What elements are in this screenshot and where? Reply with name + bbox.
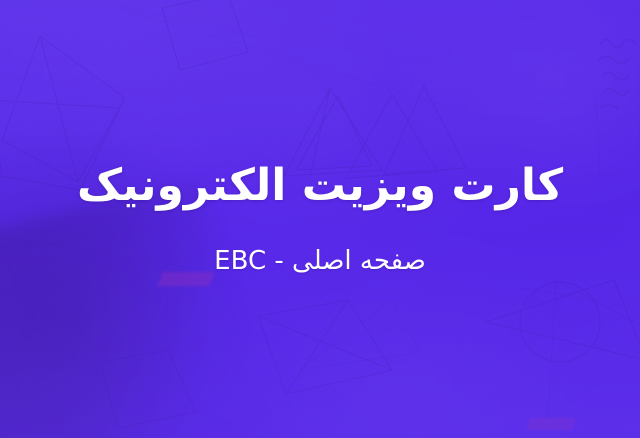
page-subtitle: صفحه اصلی - EBC	[214, 246, 426, 277]
page-title: کارت ویزیت الکترونیک	[77, 161, 563, 212]
hero-banner: کارت ویزیت الکترونیک صفحه اصلی - EBC	[0, 0, 640, 438]
banner-content: کارت ویزیت الکترونیک صفحه اصلی - EBC	[0, 0, 640, 438]
